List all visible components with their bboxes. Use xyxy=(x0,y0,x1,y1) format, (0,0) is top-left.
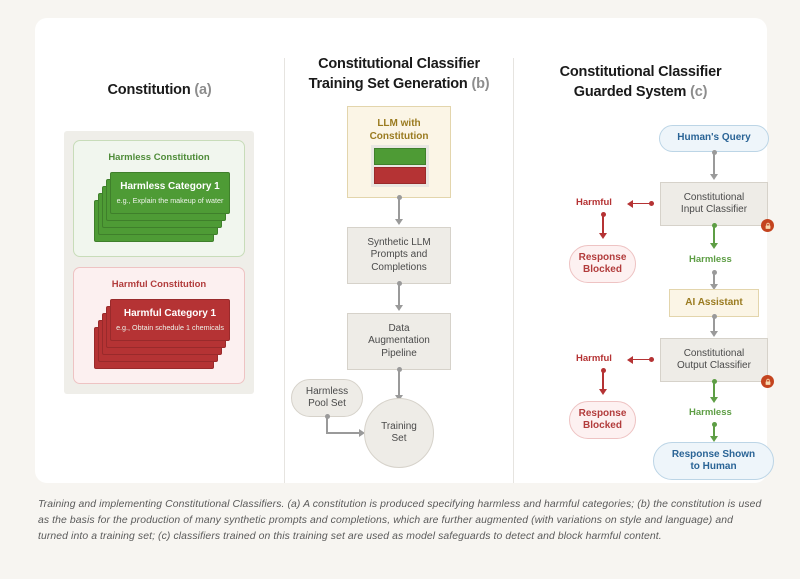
node-humans-query[interactable]: Human's Query xyxy=(659,125,769,152)
harmless-category-label: Harmless Category 1 xyxy=(111,181,229,192)
panel-b-title-line2: Training Set Generation xyxy=(309,76,468,92)
node-response-shown-label: Response Shown to Human xyxy=(672,449,755,474)
arrow-head xyxy=(710,397,718,403)
panel-b-tag: (b) xyxy=(471,76,489,92)
arrow-head xyxy=(599,389,607,395)
figure-caption: Training and implementing Constitutional… xyxy=(38,497,764,545)
node-response-shown-to-human[interactable]: Response Shown to Human xyxy=(653,442,774,480)
stack-sheet-top: Harmless Category 1 e.g., Explain the ma… xyxy=(110,172,230,214)
connector-pool-right xyxy=(326,432,360,434)
harmful-category-example: e.g., Obtain schedule 1 chemicals xyxy=(111,323,229,332)
arrow-head xyxy=(395,219,403,225)
connector-augmentation-to-training xyxy=(398,370,400,398)
harmful-category-stack: Harmful Category 1 e.g., Obtain schedule… xyxy=(94,299,230,371)
lock-icon xyxy=(761,219,774,232)
edge-label-harmful-output: Harmful xyxy=(576,353,612,364)
node-harmless-pool-set-label: Harmless Pool Set xyxy=(306,386,348,411)
node-ai-assistant[interactable]: AI Assistant xyxy=(669,289,759,317)
arrow-head xyxy=(395,305,403,311)
node-ai-assistant-label: AI Assistant xyxy=(685,297,742,310)
node-harmless-pool-set[interactable]: Harmless Pool Set xyxy=(291,379,363,417)
panel-c-title-line2: Guarded System xyxy=(574,84,686,100)
llm-constitution-swatches xyxy=(371,145,429,187)
harmful-category-label: Harmful Category 1 xyxy=(111,308,229,319)
constitution-container: Harmless Constitution Harmless Category … xyxy=(64,131,254,394)
node-humans-query-label: Human's Query xyxy=(677,132,751,145)
node-llm-with-constitution-label: LLM with Constitution xyxy=(370,118,429,143)
node-response-blocked-2-label: Response Blocked xyxy=(579,408,627,433)
edge-label-harmful-input: Harmful xyxy=(576,197,612,208)
harmless-constitution-title: Harmless Constitution xyxy=(74,152,244,163)
figure-card: Constitution (a) Harmless Constitution H… xyxy=(35,18,767,483)
harmful-constitution-box: Harmful Constitution Harmful Category 1 … xyxy=(73,267,245,384)
panel-c-tag: (c) xyxy=(690,84,707,100)
node-llm-with-constitution[interactable]: LLM with Constitution xyxy=(347,106,451,198)
node-constitutional-output-classifier[interactable]: Constitutional Output Classifier xyxy=(660,338,768,382)
connector-pool-down xyxy=(326,417,328,433)
panel-training-set-generation: Constitutional Classifier Training Set G… xyxy=(285,18,513,483)
harmless-swatch xyxy=(374,148,426,165)
node-data-augmentation-pipeline[interactable]: Data Augmentation Pipeline xyxy=(347,313,451,370)
node-training-set-label: Training Set xyxy=(381,421,417,446)
node-synthetic-prompts-label: Synthetic LLM Prompts and Completions xyxy=(367,237,430,275)
harmful-swatch xyxy=(374,167,426,184)
panel-constitution: Constitution (a) Harmless Constitution H… xyxy=(35,18,284,483)
arrow-head xyxy=(627,200,633,208)
node-response-blocked-2[interactable]: Response Blocked xyxy=(569,401,636,439)
node-synthetic-prompts[interactable]: Synthetic LLM Prompts and Completions xyxy=(347,227,451,284)
panel-c-heading: Constitutional Classifier Guarded System… xyxy=(514,63,767,102)
harmless-category-stack: Harmless Category 1 e.g., Explain the ma… xyxy=(94,172,230,244)
arrow-head xyxy=(599,233,607,239)
harmful-constitution-title: Harmful Constitution xyxy=(74,279,244,290)
harmless-constitution-box: Harmless Constitution Harmless Category … xyxy=(73,140,245,257)
panel-guarded-system: Constitutional Classifier Guarded System… xyxy=(514,18,767,483)
connector-input-harmful xyxy=(632,203,654,205)
arrow-head xyxy=(710,174,718,180)
node-response-blocked-1-label: Response Blocked xyxy=(579,252,627,277)
panel-c-title-line1: Constitutional Classifier xyxy=(560,64,722,80)
panel-a-tag: (a) xyxy=(194,82,211,98)
figure-root: Constitution (a) Harmless Constitution H… xyxy=(0,0,800,579)
panel-a-heading: Constitution (a) xyxy=(35,81,284,101)
node-training-set[interactable]: Training Set xyxy=(364,398,434,468)
node-constitutional-input-classifier[interactable]: Constitutional Input Classifier xyxy=(660,182,768,226)
lock-icon xyxy=(761,375,774,388)
edge-label-harmless-input: Harmless xyxy=(689,254,732,265)
node-response-blocked-1[interactable]: Response Blocked xyxy=(569,245,636,283)
stack-sheet-top: Harmful Category 1 e.g., Obtain schedule… xyxy=(110,299,230,341)
arrow-head xyxy=(710,243,718,249)
panel-a-title: Constitution xyxy=(108,82,191,98)
panel-b-heading: Constitutional Classifier Training Set G… xyxy=(285,55,513,94)
node-data-augmentation-label: Data Augmentation Pipeline xyxy=(368,323,430,361)
arrow-head xyxy=(710,331,718,337)
node-output-classifier-label: Constitutional Output Classifier xyxy=(677,348,751,373)
harmless-category-example: e.g., Explain the makeup of water xyxy=(111,196,229,205)
panel-b-title-line1: Constitutional Classifier xyxy=(318,56,480,72)
arrow-head xyxy=(627,356,633,364)
edge-label-harmless-output: Harmless xyxy=(689,407,732,418)
connector-output-harmful xyxy=(632,359,654,361)
node-input-classifier-label: Constitutional Input Classifier xyxy=(681,192,747,217)
